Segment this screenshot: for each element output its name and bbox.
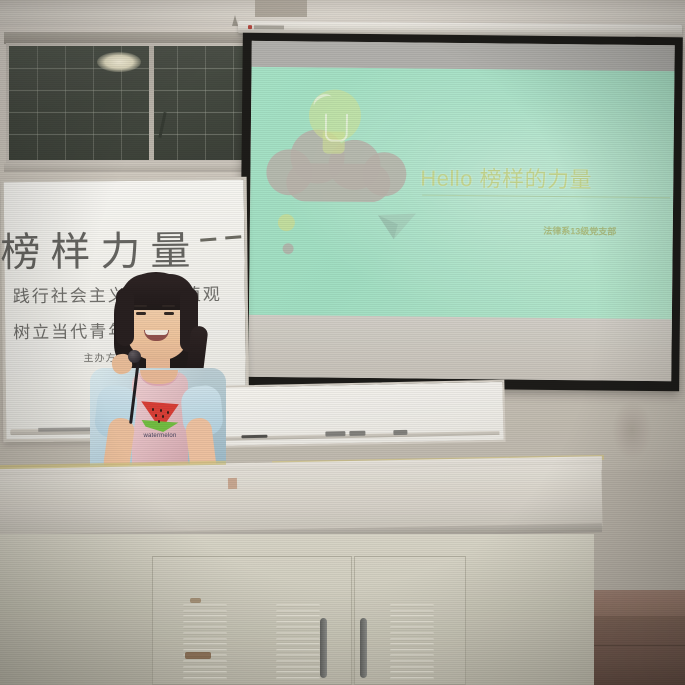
paper-plane-icon (376, 211, 418, 241)
presentation-slide: Hello 榜样的力量 法律系13级党支部 (249, 67, 675, 339)
eyebrow-left (134, 305, 147, 307)
projection-screen: Hello 榜样的力量 法律系13级党支部 (239, 33, 683, 392)
classroom-photo: Hello 榜样的力量 法律系13级党支部 榜样力量 践行社会主义核心价值观 树… (0, 0, 685, 685)
speaker: watermelon (88, 268, 228, 473)
screen-bottom-band (248, 315, 672, 381)
wall-stain (612, 400, 652, 460)
ceiling-patch (255, 0, 307, 17)
eye-left (136, 312, 146, 315)
louver-vent-3 (390, 604, 434, 682)
slide-subtitle: 法律系13级党支部 (490, 223, 670, 238)
wall-wainscot (592, 590, 685, 616)
eyebrow-right (162, 305, 175, 307)
floor (592, 616, 685, 685)
louver-vent-1 (183, 604, 227, 682)
whiteboard-large (194, 380, 505, 448)
cabinet-scuff (190, 598, 201, 603)
floor-tile-line (592, 645, 685, 646)
bubble-small (283, 243, 294, 254)
window-light-reflection (97, 52, 141, 72)
slide-title: Hello 榜样的力量 (420, 161, 674, 196)
classroom-window (6, 43, 253, 163)
watermelon-icon (140, 400, 180, 430)
roller-brand-label (254, 25, 284, 29)
cabinet-handle-right[interactable] (360, 618, 367, 678)
window-sill (4, 163, 255, 172)
window-mullion (149, 46, 154, 160)
tray-marker[interactable] (393, 430, 407, 435)
cabinet-rust-spot (185, 652, 211, 659)
whiteboard-dash-1 (200, 237, 216, 241)
whiteboard-dash-2 (225, 235, 241, 239)
microphone-icon[interactable] (128, 350, 141, 363)
lightbulb-filament (325, 114, 348, 142)
roller-brand-dot (248, 25, 252, 29)
tray-eraser-2[interactable] (349, 431, 365, 436)
podium-sticker (228, 478, 237, 489)
louver-vent-2 (276, 604, 320, 682)
hair-left (116, 288, 134, 346)
bubble-large (278, 214, 295, 231)
tray-pointer[interactable] (241, 435, 267, 439)
cabinet-handle-left[interactable] (320, 618, 327, 678)
shirt-text: watermelon (134, 433, 186, 439)
tray-eraser-1[interactable] (325, 431, 345, 436)
eye-right (164, 312, 174, 315)
screen-surface: Hello 榜样的力量 法律系13级党支部 (248, 41, 674, 381)
teeth (145, 330, 168, 335)
